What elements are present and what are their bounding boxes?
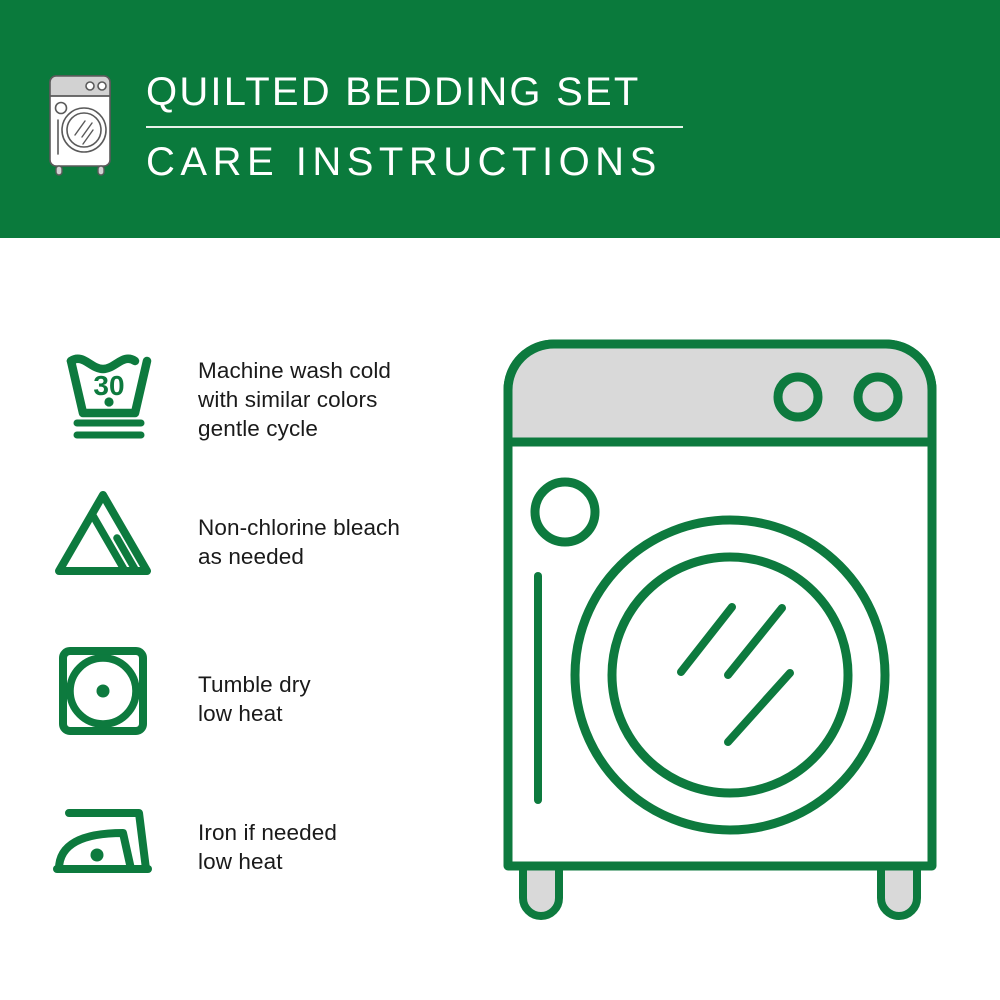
- care-instruction-list: 30 Machine wash cold with similar colors…: [0, 238, 470, 1000]
- wash-temperature-label: 30: [93, 370, 124, 401]
- wash-tub-30-gentle-icon: 30: [45, 343, 160, 443]
- list-item-label: Machine wash cold with similar colors ge…: [198, 356, 391, 443]
- title-divider: [146, 126, 683, 128]
- care-instructions-page: QUILTED BEDDING SET CARE INSTRUCTIONS 30…: [0, 0, 1000, 1000]
- front-load-washing-machine-illustration: [485, 320, 980, 940]
- tumble-dry-low-heat-icon: [45, 643, 160, 743]
- list-item: 30 Machine wash cold with similar colors…: [0, 343, 470, 443]
- header-title-block: QUILTED BEDDING SET CARE INSTRUCTIONS: [146, 66, 706, 186]
- iron-low-heat-icon: [45, 793, 160, 893]
- non-chlorine-bleach-triangle-icon: [45, 483, 160, 583]
- list-item: Tumble dry low heat: [0, 643, 470, 743]
- list-item-label: Non-chlorine bleach as needed: [198, 513, 400, 571]
- list-item-label: Iron if needed low heat: [198, 818, 337, 876]
- list-item: Non-chlorine bleach as needed: [0, 483, 470, 583]
- header-banner: QUILTED BEDDING SET CARE INSTRUCTIONS: [0, 0, 1000, 238]
- washing-machine-icon: [44, 70, 116, 178]
- page-subtitle: CARE INSTRUCTIONS: [146, 138, 706, 186]
- list-item-label: Tumble dry low heat: [198, 670, 311, 728]
- list-item: Iron if needed low heat: [0, 793, 470, 893]
- page-title: QUILTED BEDDING SET: [146, 66, 706, 118]
